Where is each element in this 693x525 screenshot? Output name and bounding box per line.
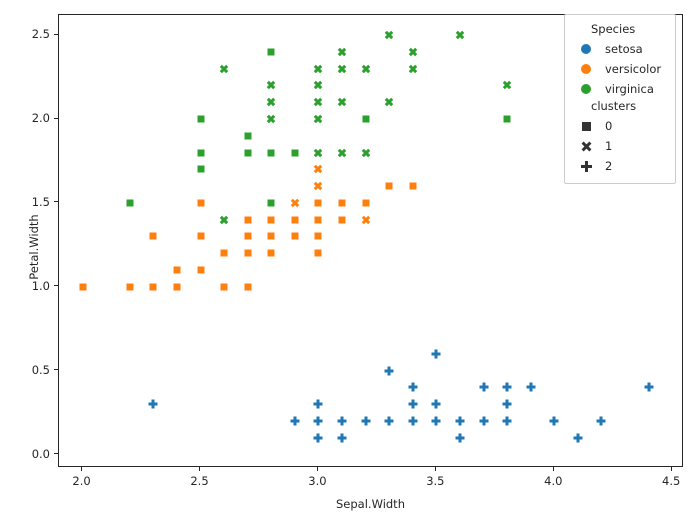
data-point (268, 250, 275, 257)
data-point (385, 98, 394, 107)
data-point (314, 417, 323, 426)
data-point (573, 433, 582, 442)
data-point (504, 116, 511, 123)
y-axis-label: Petal.Width (27, 187, 41, 307)
data-point (197, 149, 204, 156)
legend-item-species[interactable]: setosa (565, 39, 675, 59)
legend[interactable]: Species setosaversicolorvirginica cluste… (564, 14, 676, 184)
x-bold-marker-icon (573, 141, 599, 152)
y-tick-mark (54, 201, 58, 202)
data-point (244, 250, 251, 257)
scatter-plot-figure: 2.02.53.03.54.04.50.00.51.01.52.02.5 Sep… (0, 0, 693, 525)
legend-title-species: Species (565, 22, 675, 36)
legend-title-clusters: clusters (565, 99, 675, 113)
x-tick-label: 3.5 (426, 474, 444, 488)
data-point (315, 250, 322, 257)
x-tick-mark (81, 467, 82, 471)
legend-item-species[interactable]: versicolor (565, 59, 675, 79)
data-point (339, 216, 346, 223)
data-point (244, 216, 251, 223)
y-tick-mark (54, 285, 58, 286)
data-point (197, 166, 204, 173)
data-point (314, 400, 323, 409)
data-point (314, 433, 323, 442)
data-point (408, 383, 417, 392)
y-tick-label: 2.0 (32, 111, 50, 125)
data-point (338, 98, 347, 107)
data-point (197, 267, 204, 274)
data-point (315, 199, 322, 206)
data-point (268, 149, 275, 156)
data-point (267, 98, 276, 107)
data-point (314, 98, 323, 107)
data-point (644, 383, 653, 392)
legend-label: virginica (605, 82, 654, 96)
y-tick-mark (54, 118, 58, 119)
x-axis-label: Sepal.Width (58, 497, 683, 511)
plus-marker-icon (573, 161, 599, 172)
species-color-dot-icon (573, 84, 599, 94)
data-point (150, 233, 157, 240)
data-point (220, 215, 229, 224)
data-point (408, 417, 417, 426)
data-point (455, 433, 464, 442)
y-tick-mark (54, 453, 58, 454)
y-tick-label: 0.5 (32, 363, 50, 377)
data-point (432, 417, 441, 426)
data-point (503, 81, 512, 90)
data-point (290, 417, 299, 426)
species-color-dot-icon (573, 44, 599, 54)
data-point (291, 233, 298, 240)
data-point (314, 148, 323, 157)
data-point (314, 165, 323, 174)
data-point (503, 383, 512, 392)
legend-item-species[interactable]: virginica (565, 79, 675, 99)
x-tick-label: 3.0 (308, 474, 326, 488)
square-marker-icon (573, 122, 599, 131)
data-point (126, 283, 133, 290)
data-point (244, 233, 251, 240)
legend-label: 2 (605, 159, 612, 173)
data-point (385, 31, 394, 40)
data-point (408, 47, 417, 56)
legend-item-cluster[interactable]: 0 (565, 116, 675, 136)
data-point (221, 283, 228, 290)
data-point (479, 417, 488, 426)
data-point (197, 233, 204, 240)
data-point (361, 64, 370, 73)
data-point (315, 216, 322, 223)
data-point (126, 199, 133, 206)
data-point (221, 250, 228, 257)
x-tick-label: 4.0 (544, 474, 562, 488)
legend-label: 0 (605, 119, 612, 133)
data-point (149, 400, 158, 409)
x-tick-mark (671, 467, 672, 471)
data-point (408, 400, 417, 409)
data-point (268, 199, 275, 206)
x-tick-label: 2.5 (190, 474, 208, 488)
legend-label: setosa (605, 42, 643, 56)
data-point (338, 433, 347, 442)
species-color-dot-icon (573, 64, 599, 74)
legend-item-cluster[interactable]: 2 (565, 156, 675, 176)
data-point (173, 283, 180, 290)
data-point (291, 149, 298, 156)
data-point (338, 417, 347, 426)
x-tick-mark (199, 467, 200, 471)
data-point (385, 366, 394, 375)
data-point (244, 132, 251, 139)
data-point (408, 64, 417, 73)
data-point (244, 283, 251, 290)
data-point (268, 48, 275, 55)
y-tick-mark (54, 34, 58, 35)
x-tick-mark (317, 467, 318, 471)
data-point (244, 149, 251, 156)
data-point (386, 183, 393, 190)
data-point (314, 115, 323, 124)
data-point (314, 64, 323, 73)
data-point (385, 417, 394, 426)
data-point (268, 233, 275, 240)
legend-item-cluster[interactable]: 1 (565, 136, 675, 156)
data-point (455, 31, 464, 40)
x-tick-label: 4.5 (662, 474, 680, 488)
legend-species-rows: setosaversicolorvirginica (565, 39, 675, 99)
x-tick-mark (553, 467, 554, 471)
data-point (338, 148, 347, 157)
data-point (220, 64, 229, 73)
data-point (267, 115, 276, 124)
legend-clusters-rows: 012 (565, 116, 675, 176)
data-point (361, 148, 370, 157)
data-point (79, 283, 86, 290)
data-point (173, 267, 180, 274)
data-point (455, 417, 464, 426)
data-point (409, 183, 416, 190)
data-point (290, 198, 299, 207)
data-point (268, 216, 275, 223)
data-point (503, 400, 512, 409)
data-point (361, 417, 370, 426)
x-tick-mark (435, 467, 436, 471)
data-point (550, 417, 559, 426)
data-point (267, 81, 276, 90)
legend-label: 1 (605, 139, 612, 153)
data-point (338, 47, 347, 56)
data-point (361, 215, 370, 224)
data-point (362, 116, 369, 123)
y-tick-label: 0.0 (32, 447, 50, 461)
legend-label: versicolor (605, 62, 661, 76)
data-point (314, 81, 323, 90)
data-point (432, 400, 441, 409)
data-point (315, 233, 322, 240)
data-point (503, 417, 512, 426)
data-point (432, 349, 441, 358)
y-tick-mark (54, 369, 58, 370)
data-point (314, 182, 323, 191)
x-tick-label: 2.0 (72, 474, 90, 488)
data-point (526, 383, 535, 392)
data-point (339, 199, 346, 206)
data-point (150, 283, 157, 290)
data-point (197, 116, 204, 123)
data-point (597, 417, 606, 426)
data-point (291, 216, 298, 223)
data-point (479, 383, 488, 392)
data-point (338, 64, 347, 73)
data-point (197, 199, 204, 206)
y-tick-label: 2.5 (32, 27, 50, 41)
data-point (362, 199, 369, 206)
